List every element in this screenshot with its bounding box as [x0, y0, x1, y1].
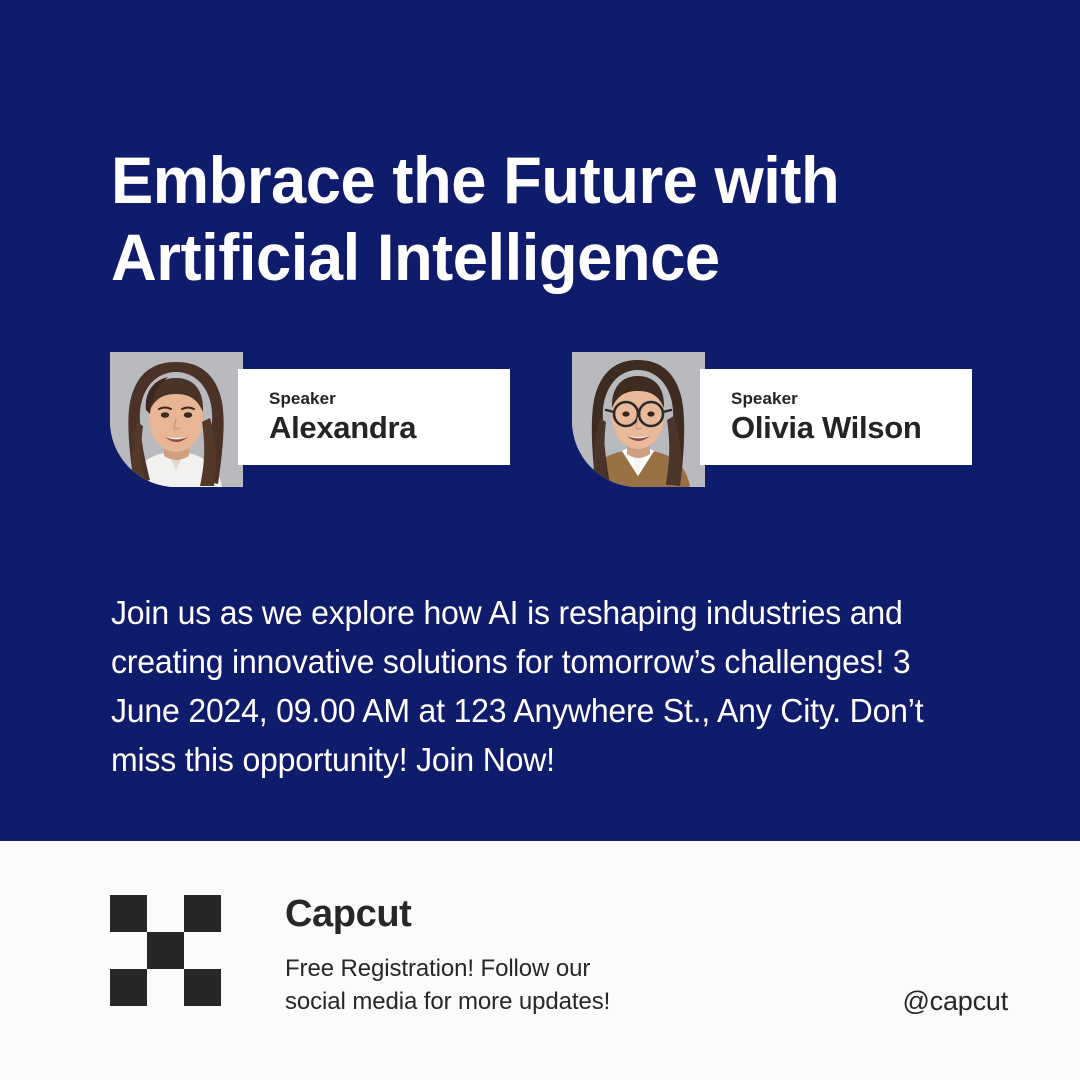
tagline-line-1: Free Registration! Follow our — [285, 952, 610, 985]
event-description: Join us as we explore how AI is reshapin… — [111, 588, 965, 784]
headline-line-2: Artificial Intelligence — [111, 219, 975, 296]
event-poster: Embrace the Future with Artificial Intel… — [0, 0, 1080, 1080]
speaker-label-card: Speaker Olivia Wilson — [700, 369, 972, 465]
speaker-label-card: Speaker Alexandra — [238, 369, 510, 465]
social-handle: @capcut — [902, 986, 1008, 1017]
speaker-role: Speaker — [731, 389, 972, 409]
brand-tagline: Free Registration! Follow our social med… — [285, 952, 610, 1018]
headline-line-1: Embrace the Future with — [111, 143, 839, 217]
speaker-photo — [572, 352, 705, 487]
speaker-name: Alexandra — [269, 411, 510, 445]
speaker-photo — [110, 352, 243, 487]
speaker-role: Speaker — [269, 389, 510, 409]
logo-cell-top-right — [184, 895, 221, 932]
tagline-line-2: social media for more updates! — [285, 985, 610, 1018]
brand-name: Capcut — [285, 894, 610, 936]
logo-cell-bottom-left — [110, 969, 147, 1006]
logo-cell-bottom-right — [184, 969, 221, 1006]
logo-cell-center — [147, 932, 184, 969]
speaker-card: Speaker Olivia Wilson — [572, 352, 972, 487]
speaker-name: Olivia Wilson — [731, 411, 972, 445]
speaker-card: Speaker Alexandra — [110, 352, 510, 487]
footer: Capcut Free Registration! Follow our soc… — [0, 841, 1080, 1080]
speaker-list: Speaker Alexandra — [110, 352, 972, 487]
logo-cell-top-left — [110, 895, 147, 932]
checkerboard-logo-icon — [110, 895, 221, 1006]
page-title: Embrace the Future with Artificial Intel… — [111, 142, 975, 295]
brand-block: Capcut Free Registration! Follow our soc… — [285, 894, 610, 1018]
